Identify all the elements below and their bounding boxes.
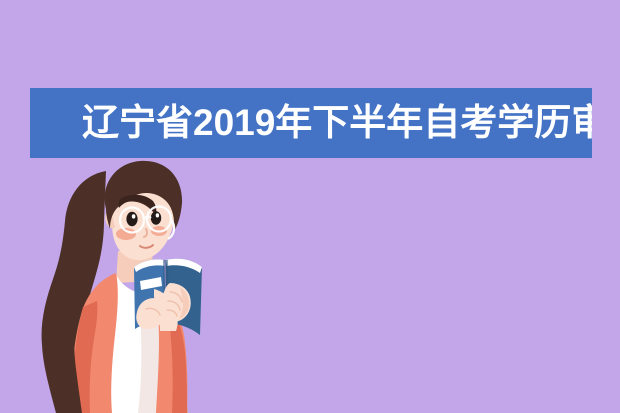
page-title: 辽宁省2019年下半年自考学历审: [30, 88, 592, 158]
girl-reading-illustration: [20, 155, 230, 413]
title-banner: 辽宁省2019年下半年自考学历审: [30, 88, 592, 158]
poster-canvas: 辽宁省2019年下半年自考学历审: [0, 0, 620, 413]
eye-left-highlight: [132, 214, 136, 218]
eye-left: [126, 212, 137, 226]
eye-right-highlight: [156, 213, 159, 217]
eye-right: [151, 211, 161, 225]
